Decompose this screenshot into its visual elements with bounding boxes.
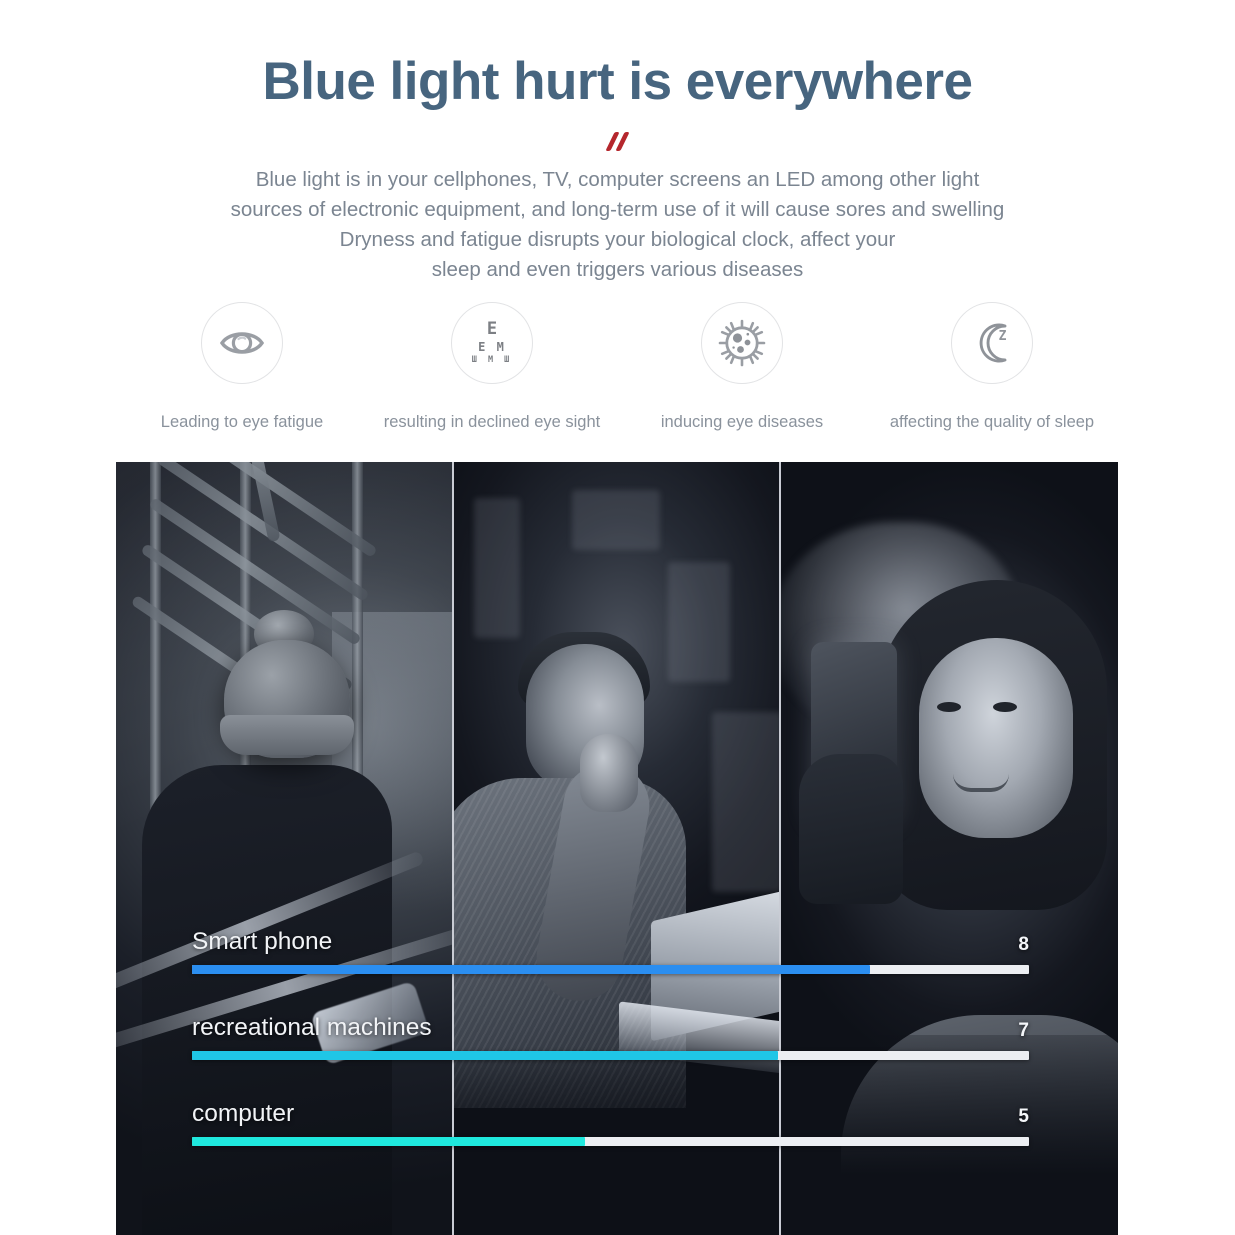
photo-subject-detail <box>220 715 354 755</box>
photo-subject-face <box>919 638 1073 838</box>
feature-eye-fatigue: Leading to eye fatigue <box>117 302 367 432</box>
photo-detail <box>474 498 520 638</box>
bar-row-computer: computer 5 <box>192 1100 1029 1146</box>
double-slash-divider-icon <box>0 128 1235 154</box>
intro-line-2: sources of electronic equipment, and lon… <box>0 195 1235 225</box>
usage-bar-chart: Smart phone 8 recreational machines 7 co… <box>192 928 1029 1146</box>
photo-subject-detail <box>993 702 1017 712</box>
feature-icon-circle: E E M Ш M Ш <box>451 302 533 384</box>
bar-category-label: computer <box>192 1100 294 1128</box>
intro-line-4: sleep and even triggers various diseases <box>0 255 1235 285</box>
photo-subject-detail <box>799 754 903 904</box>
eye-icon <box>218 319 266 367</box>
bar-track <box>192 965 1029 974</box>
bar-fill <box>192 965 870 974</box>
feature-label: affecting the quality of sleep <box>890 413 1094 432</box>
bar-header: recreational machines 7 <box>192 1014 1029 1042</box>
eye-chart-row-1: E <box>487 321 497 338</box>
bar-value-label: 5 <box>1018 1106 1029 1128</box>
eye-chart-row-2: E M <box>478 341 506 353</box>
feature-row: Leading to eye fatigue E E M Ш M Ш resul… <box>117 302 1117 432</box>
photo-subject-detail <box>937 702 961 712</box>
bar-header: computer 5 <box>192 1100 1029 1128</box>
eye-chart-icon: E E M Ш M Ш <box>472 321 513 365</box>
virus-icon <box>718 319 766 367</box>
feature-eye-diseases: inducing eye diseases <box>617 302 867 432</box>
feature-declined-eyesight: E E M Ш M Ш resulting in declined eye si… <box>367 302 617 432</box>
bar-row-smart-phone: Smart phone 8 <box>192 928 1029 974</box>
bar-track <box>192 1137 1029 1146</box>
bar-fill <box>192 1051 778 1060</box>
bar-category-label: recreational machines <box>192 1014 432 1042</box>
bar-fill <box>192 1137 585 1146</box>
feature-icon-circle <box>201 302 283 384</box>
intro-paragraph: Blue light is in your cellphones, TV, co… <box>0 165 1235 285</box>
eye-chart-row-3: Ш M Ш <box>472 356 513 365</box>
bar-row-recreational-machines: recreational machines 7 <box>192 1014 1029 1060</box>
intro-line-1: Blue light is in your cellphones, TV, co… <box>0 165 1235 195</box>
bar-value-label: 7 <box>1018 1020 1029 1042</box>
intro-line-3: Dryness and fatigue disrupts your biolog… <box>0 225 1235 255</box>
photo-detail <box>712 712 779 892</box>
bar-track <box>192 1051 1029 1060</box>
photo-detail <box>668 562 730 682</box>
feature-icon-circle <box>701 302 783 384</box>
feature-label: inducing eye diseases <box>661 413 823 432</box>
page-title: Blue light hurt is everywhere <box>0 52 1235 113</box>
blue-light-infographic: Blue light hurt is everywhere Blue light… <box>0 0 1235 1235</box>
feature-label: Leading to eye fatigue <box>161 413 323 432</box>
bar-value-label: 8 <box>1018 934 1029 956</box>
feature-icon-circle: Z <box>951 302 1033 384</box>
bar-category-label: Smart phone <box>192 928 332 956</box>
feature-label: resulting in declined eye sight <box>384 413 600 432</box>
moon-z-letter: Z <box>999 329 1007 344</box>
photo-detail <box>572 490 660 550</box>
feature-sleep-quality: Z affecting the quality of sleep <box>867 302 1117 432</box>
bar-header: Smart phone 8 <box>192 928 1029 956</box>
photo-subject-detail <box>580 734 638 812</box>
moon-sleep-icon: Z <box>968 319 1016 367</box>
